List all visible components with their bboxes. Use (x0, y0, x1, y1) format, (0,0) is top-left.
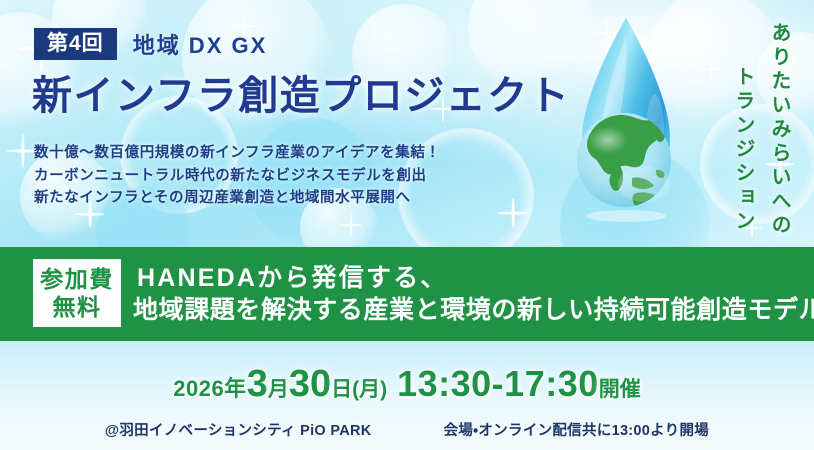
page-title: 新インフラ創造プロジェクト (32, 76, 570, 116)
lead-line-1: 数十億〜数百億円規模の新インフラ産業のアイデアを集結！ (34, 142, 441, 165)
event-year: 2026年 (173, 376, 246, 401)
lead-line-3: 新たなインフラとその周辺産業創造と地域間水平展開へ (34, 187, 441, 210)
vertical-tagline-right: ありたいみらいへの (765, 22, 794, 238)
water-droplet-globe-graphic (562, 14, 690, 234)
fee-badge-line-2: 無料 (53, 293, 102, 321)
issue-row: 第4回 地域 DX GX (34, 28, 267, 60)
band-message: HANEDAから発信する、 地域課題を解決する産業と環境の新しい持続可能創造モデ… (133, 262, 814, 326)
venue-open-info: 会場・オンライン配信共に13:00より開場 (444, 419, 710, 440)
topic-label: 地域 DX GX (133, 28, 268, 60)
event-poster: 第4回 地域 DX GX 新インフラ創造プロジェクト 数十億〜数百億円規模の新イ… (0, 0, 814, 450)
lead-line-2: カーボンニュートラル時代の新たなビジネスモデルを創出 (34, 165, 441, 188)
venue-location: @羽田イノベーションシティ PiO PARK (105, 419, 372, 440)
venue-info: @羽田イノベーションシティ PiO PARK 会場・オンライン配信共に13:00… (0, 419, 814, 440)
event-day-unit: 日(月) (331, 378, 387, 401)
lead-paragraph: 数十億〜数百億円規模の新インフラ産業のアイデアを集結！ カーボンニュートラル時代… (34, 142, 441, 210)
band-message-line-2: 地域課題を解決する産業と環境の新しい持続可能創造モデル (133, 294, 814, 326)
fee-badge-line-1: 参加費 (40, 265, 114, 293)
event-day-num: 30 (289, 363, 331, 405)
event-time-range: 13:30-17:30 (397, 363, 599, 404)
event-datetime: 2026年3月30日(月)13:30-17:30開催 (0, 363, 814, 406)
vertical-tagline-left: トランジション (729, 66, 758, 234)
event-month-unit: 月 (268, 378, 289, 401)
band-message-line-1: HANEDAから発信する、 (133, 262, 814, 294)
issue-badge: 第4回 (34, 28, 117, 60)
event-month-num: 3 (247, 363, 268, 405)
event-hold-label: 開催 (599, 378, 641, 401)
fee-badge: 参加費 無料 (33, 259, 121, 327)
